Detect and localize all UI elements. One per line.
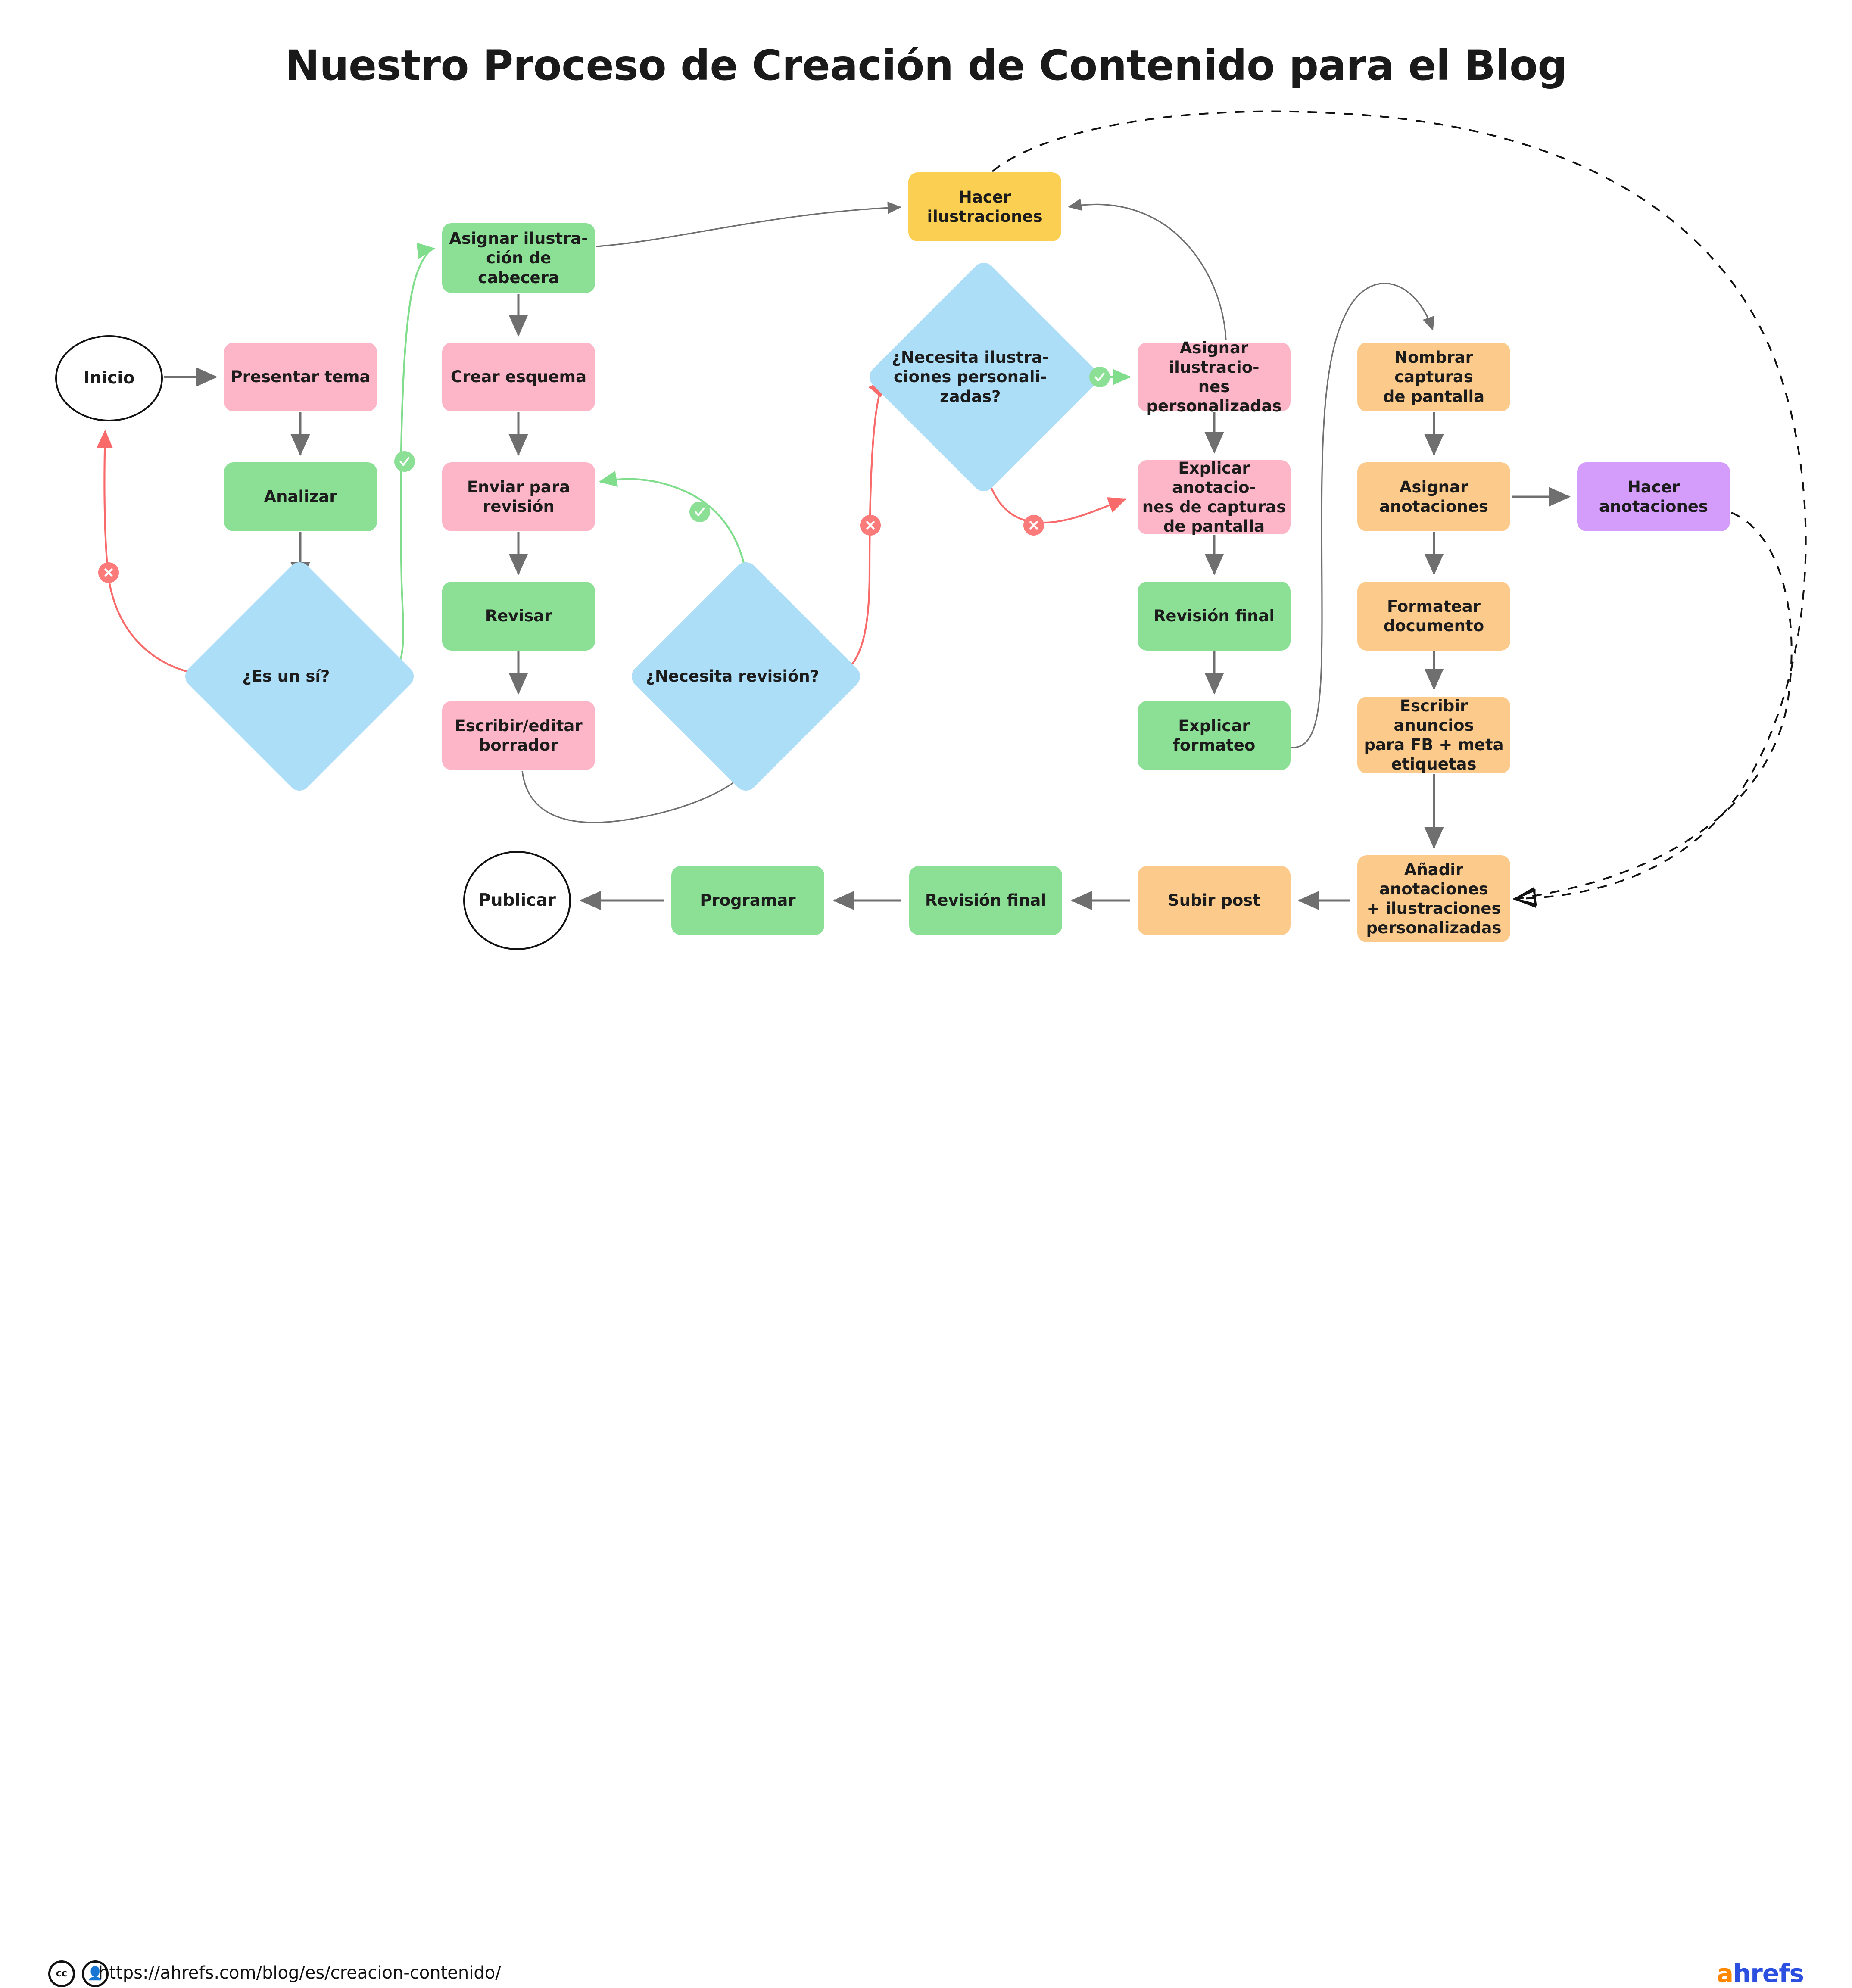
flow-node-asignar-cabecera[interactable]: Asignar ilustra-ción de cabecera bbox=[442, 223, 595, 293]
flow-node-hacer-anot[interactable]: Haceranotaciones bbox=[1577, 462, 1730, 531]
flow-node-escribir-editar[interactable]: Escribir/editarborrador bbox=[442, 701, 595, 770]
flow-node-label: Crear esquema bbox=[451, 367, 586, 386]
flow-node-label: Presentar tema bbox=[231, 367, 370, 386]
attribution-url[interactable]: https://ahrefs.com/blog/es/creacion-cont… bbox=[98, 1963, 501, 1983]
flow-node-necesita-ilustr[interactable]: ¿Necesita ilustra-ciones personali-zadas… bbox=[900, 293, 1068, 461]
flow-node-explicar-form[interactable]: Explicarformateo bbox=[1138, 701, 1291, 770]
ahrefs-logo-rest: hrefs bbox=[1733, 1959, 1804, 1988]
flow-node-hacer-ilustr[interactable]: Hacerilustraciones bbox=[908, 172, 1061, 241]
check-mark-icon bbox=[1089, 367, 1110, 387]
flow-node-es-un-si[interactable]: ¿Es un sí? bbox=[215, 592, 383, 760]
flow-node-label: Publicar bbox=[478, 890, 556, 911]
flow-node-escribir-anun[interactable]: Escribir anunciospara FB + metaetiquetas bbox=[1357, 697, 1510, 773]
flow-node-label: Asignaranotaciones bbox=[1379, 477, 1488, 516]
flow-node-analizar[interactable]: Analizar bbox=[224, 462, 377, 531]
x-mark-icon bbox=[860, 515, 881, 536]
flow-node-inicio[interactable]: Inicio bbox=[55, 335, 163, 421]
flow-node-label: Asignar ilustra-ción de cabecera bbox=[446, 229, 591, 287]
x-mark-icon bbox=[98, 562, 119, 583]
flow-node-programar[interactable]: Programar bbox=[671, 866, 824, 935]
flow-node-label: Explicarformateo bbox=[1173, 716, 1256, 755]
flow-node-label: Haceranotaciones bbox=[1599, 477, 1708, 516]
flow-node-label: ¿Es un sí? bbox=[189, 667, 383, 686]
flow-node-explicar-anot[interactable]: Explicar anotacio-nes de capturasde pant… bbox=[1138, 460, 1291, 534]
flow-node-label: Enviar pararevisión bbox=[467, 477, 570, 516]
flow-node-formatear-doc[interactable]: Formateardocumento bbox=[1357, 582, 1510, 651]
flow-node-label: Asignar ilustracio-nes personalizadas bbox=[1142, 338, 1286, 416]
flow-node-label: Escribir anunciospara FB + metaetiquetas bbox=[1362, 696, 1506, 774]
flow-node-label: Revisión final bbox=[925, 891, 1046, 910]
flow-node-label: Escribir/editarborrador bbox=[455, 716, 582, 755]
flow-node-subir-post[interactable]: Subir post bbox=[1138, 866, 1291, 935]
flow-node-label: Formateardocumento bbox=[1384, 597, 1484, 636]
flow-node-label: Analizar bbox=[264, 487, 337, 506]
flow-node-label: Nombrar capturasde pantalla bbox=[1362, 348, 1506, 406]
flow-node-label: Hacerilustraciones bbox=[927, 187, 1042, 226]
flow-node-enviar-revision[interactable]: Enviar pararevisión bbox=[442, 462, 595, 531]
flow-node-revision-final-2[interactable]: Revisión final bbox=[909, 866, 1062, 935]
check-mark-icon bbox=[394, 451, 415, 472]
flow-node-anadir-anot[interactable]: Añadir anotaciones+ ilustracionespersona… bbox=[1357, 855, 1510, 942]
edge-haceranot-anadiranot bbox=[1517, 513, 1792, 899]
flow-node-revision-final-1[interactable]: Revisión final bbox=[1138, 582, 1291, 651]
flow-node-crear-esquema[interactable]: Crear esquema bbox=[442, 343, 595, 411]
page-title: Nuestro Proceso de Creación de Contenido… bbox=[0, 41, 1852, 90]
flow-node-asignar-anot[interactable]: Asignaranotaciones bbox=[1357, 462, 1510, 531]
flow-node-asignar-ilustr-p[interactable]: Asignar ilustracio-nes personalizadas bbox=[1138, 343, 1291, 411]
flowchart-canvas: Nuestro Proceso de Creación de Contenido… bbox=[0, 0, 1852, 1056]
footer: cc 👤 https://ahrefs.com/blog/es/creacion… bbox=[0, 974, 1852, 1056]
flow-node-label: Subir post bbox=[1168, 891, 1260, 910]
edge-esunsi-no-inicio bbox=[104, 431, 215, 676]
flow-node-label: Añadir anotaciones+ ilustracionespersona… bbox=[1362, 860, 1506, 938]
flow-node-label: ¿Necesita revisión? bbox=[635, 667, 830, 686]
check-mark-icon bbox=[689, 502, 710, 522]
flow-node-label: Explicar anotacio-nes de capturasde pant… bbox=[1142, 458, 1286, 536]
flow-node-label: Revisión final bbox=[1154, 606, 1275, 626]
flow-node-publicar[interactable]: Publicar bbox=[463, 851, 571, 950]
flow-node-revisar[interactable]: Revisar bbox=[442, 582, 595, 651]
flow-node-nombrar-capt[interactable]: Nombrar capturasde pantalla bbox=[1357, 343, 1510, 411]
flow-node-label: Inicio bbox=[84, 368, 135, 389]
edge-asignarcabecera-hacerilustraciones bbox=[596, 207, 901, 246]
creative-commons-icon: cc bbox=[48, 1960, 75, 1987]
flow-node-presentar[interactable]: Presentar tema bbox=[224, 343, 377, 411]
flow-node-label: Revisar bbox=[485, 606, 552, 626]
flow-node-necesita-revision[interactable]: ¿Necesita revisión? bbox=[662, 592, 830, 760]
edge-escribireditar-necesitarevision bbox=[522, 771, 746, 823]
flow-node-label: Programar bbox=[700, 891, 795, 910]
flow-node-label: ¿Necesita ilustra-ciones personali-zadas… bbox=[873, 348, 1068, 406]
x-mark-icon bbox=[1023, 515, 1044, 536]
edge-necesitarevision-yes-enviarrevision bbox=[600, 479, 748, 585]
ahrefs-logo-a: a bbox=[1717, 1959, 1733, 1988]
ahrefs-logo[interactable]: ahrefs bbox=[1717, 1959, 1804, 1988]
edge-asignarilustr-hacerilustraciones bbox=[1069, 204, 1226, 340]
